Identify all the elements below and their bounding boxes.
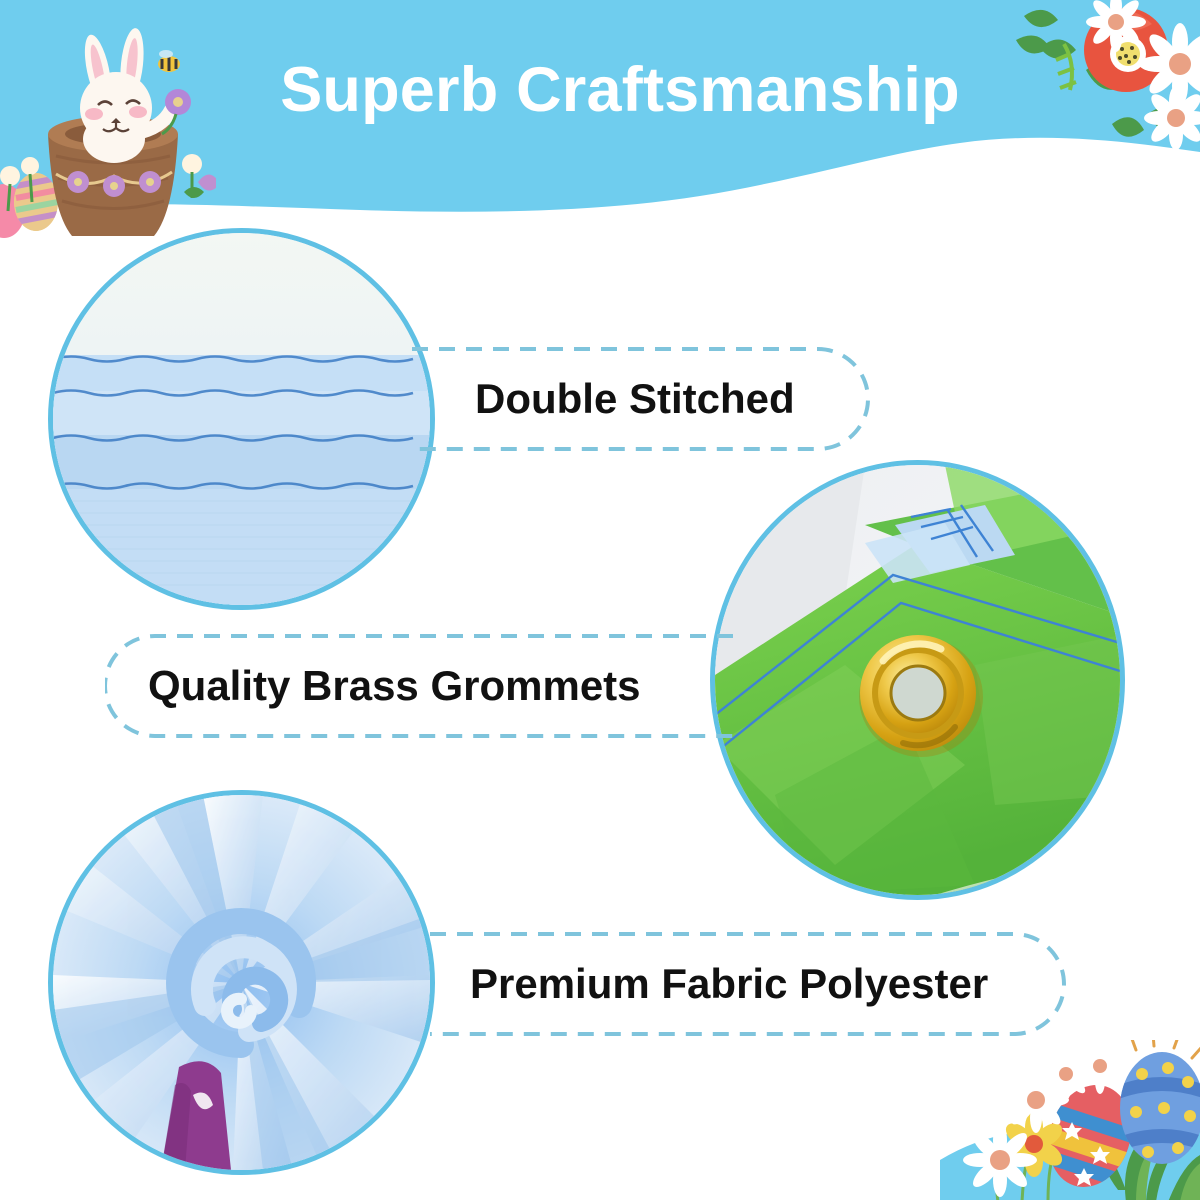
feature-label-text: Premium Fabric Polyester — [470, 963, 988, 1005]
polyester-fabric-photo — [48, 790, 435, 1175]
header-banner: Superb Craftsmanship — [0, 0, 1200, 250]
feature-label-premium-fabric-polyester: Premium Fabric Polyester — [430, 928, 1070, 1040]
brass-grommet-photo — [710, 460, 1125, 900]
brass-grommet-image — [715, 465, 1120, 895]
easter-bunny-basket-icon — [0, 6, 216, 256]
infographic-canvas: Superb Craftsmanship — [0, 0, 1200, 1200]
polyester-fabric-image — [53, 795, 430, 1170]
stitched-fabric-photo — [48, 228, 435, 610]
page-title: Superb Craftsmanship — [180, 40, 1060, 140]
feature-label-double-stitched: Double Stitched — [412, 343, 874, 455]
stitched-fabric-image — [53, 233, 430, 605]
feature-label-text: Double Stitched — [475, 378, 795, 420]
feature-label-quality-brass-grommets: Quality Brass Grommets — [105, 630, 733, 742]
easter-eggs-daisies-icon — [940, 1040, 1200, 1200]
feature-label-text: Quality Brass Grommets — [148, 665, 641, 707]
poppy-daisy-floral-icon — [1008, 0, 1200, 192]
